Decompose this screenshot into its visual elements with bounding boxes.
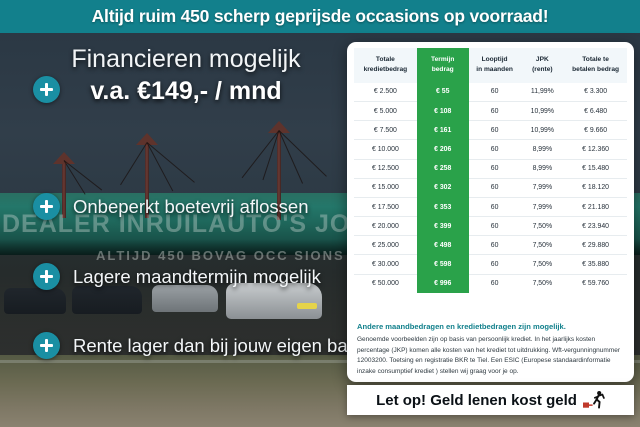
table-cell: € 30.000	[354, 255, 417, 274]
table-cell: 7,50%	[521, 217, 565, 236]
plus-icon	[33, 332, 60, 359]
table-cell: € 108	[417, 101, 469, 120]
table-cell: 60	[469, 121, 521, 140]
table-cell: € 12.360	[564, 140, 627, 159]
table-cell: € 20.000	[354, 217, 417, 236]
table-cell: € 3.300	[564, 83, 627, 102]
table-cell: 8,99%	[521, 159, 565, 178]
table-cell: 60	[469, 197, 521, 216]
table-cell: 60	[469, 274, 521, 293]
top-promo-banner-text: Altijd ruim 450 scherp geprijsde occasio…	[92, 6, 549, 27]
rate-table-column-header: JPK(rente)	[521, 48, 565, 83]
table-cell: € 498	[417, 236, 469, 255]
table-cell: € 59.760	[564, 274, 627, 293]
table-cell: € 258	[417, 159, 469, 178]
column-header-line: JPK	[522, 55, 564, 65]
rate-table-column-header: Looptijdin maanden	[469, 48, 521, 83]
table-cell: 8,99%	[521, 140, 565, 159]
table-cell: € 29.880	[564, 236, 627, 255]
table-cell: € 353	[417, 197, 469, 216]
column-header-line: bedrag	[418, 65, 468, 75]
plus-icon	[33, 193, 60, 220]
table-cell: 7,50%	[521, 255, 565, 274]
table-row: € 50.000€ 996607,50%€ 59.760	[354, 274, 627, 293]
table-cell: 7,99%	[521, 197, 565, 216]
table-cell: € 598	[417, 255, 469, 274]
benefit-label: Lagere maandtermijn mogelijk	[73, 266, 321, 288]
table-cell: 7,50%	[521, 236, 565, 255]
table-cell: 7,50%	[521, 274, 565, 293]
table-cell: € 206	[417, 140, 469, 159]
benefit-item-1: Onbeperkt boetevrij aflossen	[0, 193, 346, 220]
table-cell: € 50.000	[354, 274, 417, 293]
table-row: € 17.500€ 353607,99%€ 21.180	[354, 197, 627, 216]
table-cell: € 7.500	[354, 121, 417, 140]
table-cell: 60	[469, 255, 521, 274]
column-header-line: betalen bedrag	[565, 65, 626, 75]
rate-table-header-row: TotalekredietbedragTermijnbedragLooptijd…	[354, 48, 627, 83]
table-cell: € 5.000	[354, 101, 417, 120]
table-cell: 60	[469, 236, 521, 255]
table-row: € 12.500€ 258608,99%€ 15.480	[354, 159, 627, 178]
column-header-line: Totale te	[565, 55, 626, 65]
plus-icon	[33, 263, 60, 290]
table-cell: 60	[469, 159, 521, 178]
table-cell: € 18.120	[564, 178, 627, 197]
table-cell: € 6.480	[564, 101, 627, 120]
column-header-line: Looptijd	[470, 55, 520, 65]
table-cell: 11,99%	[521, 83, 565, 102]
rate-table-head: TotalekredietbedragTermijnbedragLooptijd…	[354, 48, 627, 83]
table-cell: € 10.000	[354, 140, 417, 159]
column-header-line: kredietbedrag	[355, 65, 416, 75]
table-row: € 5.000€ 1086010,99%€ 6.480	[354, 101, 627, 120]
headline-line-1: Financieren mogelijk	[0, 45, 346, 73]
table-cell: € 25.000	[354, 236, 417, 255]
table-cell: € 21.180	[564, 197, 627, 216]
rate-table-body: € 2.500€ 556011,99%€ 3.300€ 5.000€ 10860…	[354, 83, 627, 293]
table-cell: € 15.480	[564, 159, 627, 178]
benefit-label: Onbeperkt boetevrij aflossen	[73, 196, 309, 218]
table-row: € 30.000€ 598607,50%€ 35.880	[354, 255, 627, 274]
table-row: € 10.000€ 206608,99%€ 12.360	[354, 140, 627, 159]
table-cell: 10,99%	[521, 101, 565, 120]
rate-table-column-header: Termijnbedrag	[417, 48, 469, 83]
table-cell: 60	[469, 101, 521, 120]
table-cell: € 55	[417, 83, 469, 102]
warning-bar: Let op! Geld lenen kost geld	[347, 385, 634, 415]
table-cell: 60	[469, 178, 521, 197]
table-cell: 10,99%	[521, 121, 565, 140]
top-promo-banner: Altijd ruim 450 scherp geprijsde occasio…	[0, 0, 640, 33]
warning-bar-text: Let op! Geld lenen kost geld	[376, 392, 577, 409]
running-man-icon	[583, 390, 605, 410]
table-row: € 15.000€ 302607,99%€ 18.120	[354, 178, 627, 197]
table-cell: € 17.500	[354, 197, 417, 216]
rate-table-column-header: Totalekredietbedrag	[354, 48, 417, 83]
table-cell: € 23.940	[564, 217, 627, 236]
table-cell: 60	[469, 217, 521, 236]
disclaimer-block: Andere maandbedragen en kredietbedragen …	[347, 316, 634, 377]
table-row: € 2.500€ 556011,99%€ 3.300	[354, 83, 627, 102]
rate-table-column-header: Totale tebetalen bedrag	[564, 48, 627, 83]
table-row: € 25.000€ 498607,50%€ 29.880	[354, 236, 627, 255]
rate-table: TotalekredietbedragTermijnbedragLooptijd…	[354, 48, 627, 293]
disclaimer-title: Andere maandbedragen en kredietbedragen …	[357, 322, 624, 331]
table-cell: € 9.660	[564, 121, 627, 140]
benefit-label: Rente lager dan bij jouw eigen bank	[73, 335, 367, 357]
table-cell: € 35.880	[564, 255, 627, 274]
table-row: € 7.500€ 1616010,99%€ 9.660	[354, 121, 627, 140]
table-row: € 20.000€ 399607,50%€ 23.940	[354, 217, 627, 236]
left-marketing-panel: Financieren mogelijk v.a. €149,- / mnd O…	[0, 33, 346, 427]
table-cell: € 2.500	[354, 83, 417, 102]
table-cell: 60	[469, 140, 521, 159]
plus-icon	[33, 76, 60, 103]
table-cell: € 302	[417, 178, 469, 197]
column-header-line: Termijn	[418, 55, 468, 65]
benefit-item-3: Rente lager dan bij jouw eigen bank	[0, 332, 346, 359]
column-header-line: Totale	[355, 55, 416, 65]
benefit-item-2: Lagere maandtermijn mogelijk	[0, 263, 346, 290]
disclaimer-body: Genoemde voorbeelden zijn op basis van p…	[357, 335, 624, 377]
table-cell: € 15.000	[354, 178, 417, 197]
table-cell: € 996	[417, 274, 469, 293]
table-cell: 7,99%	[521, 178, 565, 197]
table-cell: € 12.500	[354, 159, 417, 178]
table-cell: € 161	[417, 121, 469, 140]
column-header-line: in maanden	[470, 65, 520, 75]
table-cell: 60	[469, 83, 521, 102]
table-cell: € 399	[417, 217, 469, 236]
column-header-line: (rente)	[522, 65, 564, 75]
